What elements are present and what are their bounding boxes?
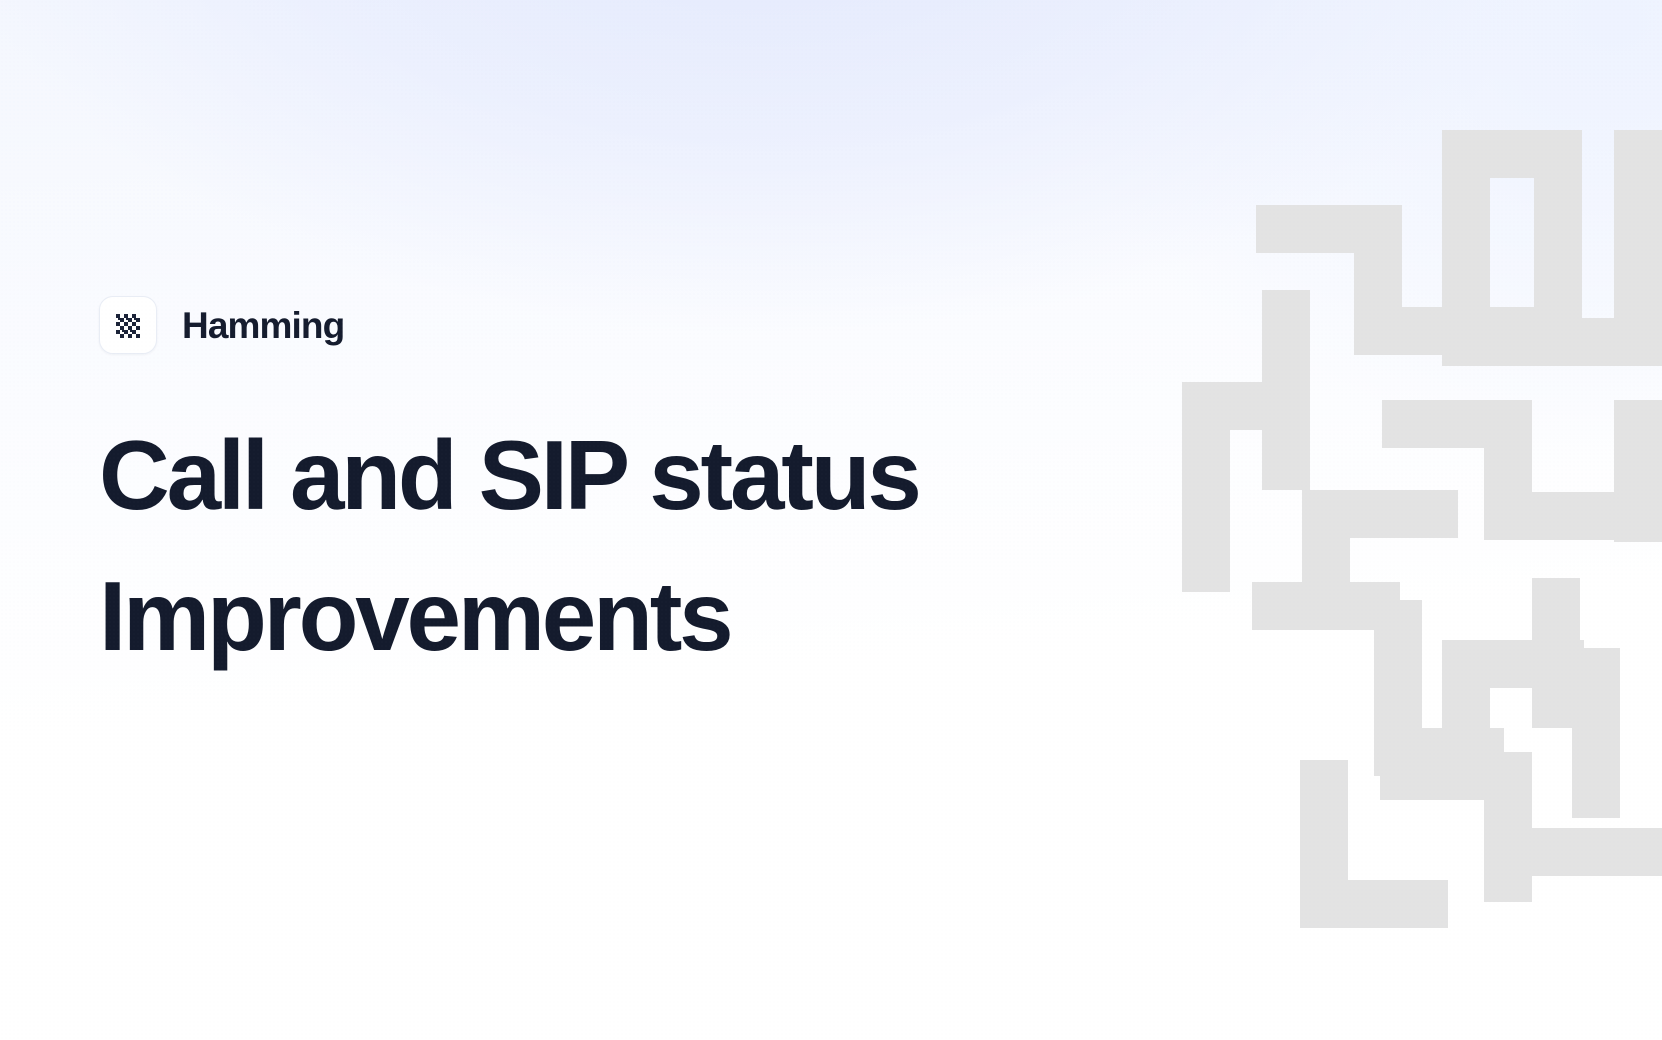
brand-lockup[interactable]: Hamming	[99, 296, 344, 354]
maze-pattern-decoration	[1142, 0, 1662, 1040]
hero-banner: Hamming Call and SIP status Improvements	[0, 0, 1662, 1040]
brand-name: Hamming	[182, 307, 344, 344]
hamming-maze-logo-icon	[99, 296, 157, 354]
page-title: Call and SIP status Improvements	[99, 405, 1109, 687]
hero-content: Hamming Call and SIP status Improvements	[99, 0, 1109, 1040]
maze-pattern-icon	[1142, 0, 1662, 1040]
